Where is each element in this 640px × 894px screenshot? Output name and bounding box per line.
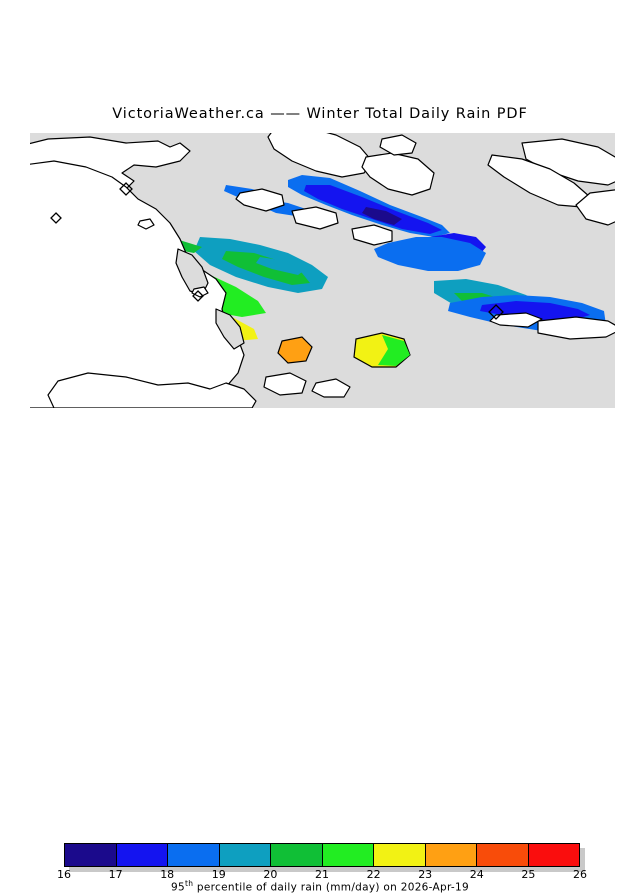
colorbar-bin-25-26[interactable] xyxy=(529,844,580,866)
colorbar-bin-19-20[interactable] xyxy=(220,844,272,866)
colorbar-bin-20-21[interactable] xyxy=(271,844,323,866)
colorbar-bin-24-25[interactable] xyxy=(477,844,529,866)
page-title: VictoriaWeather.ca —— Winter Total Daily… xyxy=(0,106,640,122)
colorbar-bin-16-17[interactable] xyxy=(65,844,117,866)
colorbar-legend: 1617181920212223242526 95th percentile o… xyxy=(0,418,640,480)
colorbar-bin-22-23[interactable] xyxy=(374,844,426,866)
map-panel[interactable] xyxy=(30,133,615,408)
colorbar-bin-18-19[interactable] xyxy=(168,844,220,866)
colorbar-bin-17-18[interactable] xyxy=(117,844,169,866)
caption-percentile-suffix: th xyxy=(185,879,193,888)
caption-percentile-number: 95 xyxy=(171,882,185,894)
land-san-juan-white xyxy=(538,317,615,339)
map-canvas[interactable] xyxy=(30,133,615,408)
colorbar-bin-23-24[interactable] xyxy=(426,844,478,866)
colorbar-bin-21-22[interactable] xyxy=(323,844,375,866)
caption-text: percentile of daily rain (mm/day) on 202… xyxy=(193,882,469,894)
colorbar-caption: 95th percentile of daily rain (mm/day) o… xyxy=(0,879,640,894)
colorbar-swatches[interactable] xyxy=(64,843,580,867)
